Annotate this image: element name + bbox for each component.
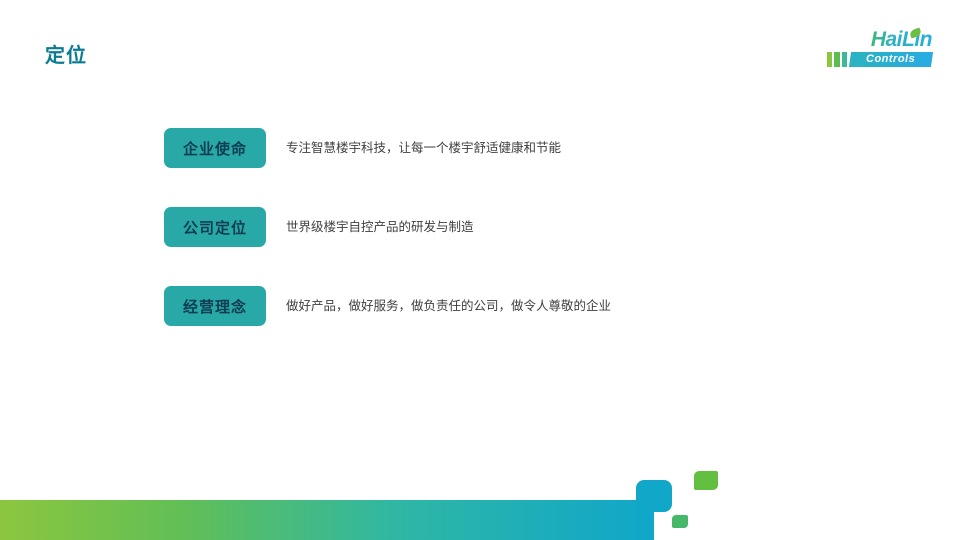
footer-green-square-small <box>672 515 688 528</box>
hailin-controls-logo: HaiLin Controls <box>827 28 932 72</box>
row-text-company-positioning: 世界级楼宇自控产品的研发与制造 <box>286 218 474 236</box>
content-list: 企业使命 专注智慧楼宇科技，让每一个楼宇舒适健康和节能 公司定位 世界级楼宇自控… <box>164 128 784 326</box>
footer-decoration <box>0 450 960 540</box>
logo-banner: Controls <box>849 52 933 67</box>
chip-company-positioning: 公司定位 <box>164 207 266 247</box>
footer-blue-shape-tail <box>636 510 654 540</box>
footer-blue-shape <box>636 480 672 512</box>
list-item: 公司定位 世界级楼宇自控产品的研发与制造 <box>164 207 784 247</box>
list-item: 经营理念 做好产品，做好服务，做负责任的公司，做令人尊敬的企业 <box>164 286 784 326</box>
footer-green-square-large <box>694 471 718 490</box>
list-item: 企业使命 专注智慧楼宇科技，让每一个楼宇舒适健康和节能 <box>164 128 784 168</box>
row-text-business-philosophy: 做好产品，做好服务，做负责任的公司，做令人尊敬的企业 <box>286 297 611 315</box>
slide: 定位 HaiLin Controls 企业使命 专注智慧楼宇科技，让每一个楼宇舒… <box>0 0 960 540</box>
chip-business-philosophy: 经营理念 <box>164 286 266 326</box>
chip-corporate-mission: 企业使命 <box>164 128 266 168</box>
logo-bars-icon <box>827 52 847 67</box>
footer-gradient-bar <box>0 500 640 540</box>
row-text-corporate-mission: 专注智慧楼宇科技，让每一个楼宇舒适健康和节能 <box>286 139 561 157</box>
logo-banner-label: Controls <box>866 52 915 67</box>
page-title: 定位 <box>45 42 87 70</box>
logo-bottom-row: Controls <box>827 52 932 67</box>
